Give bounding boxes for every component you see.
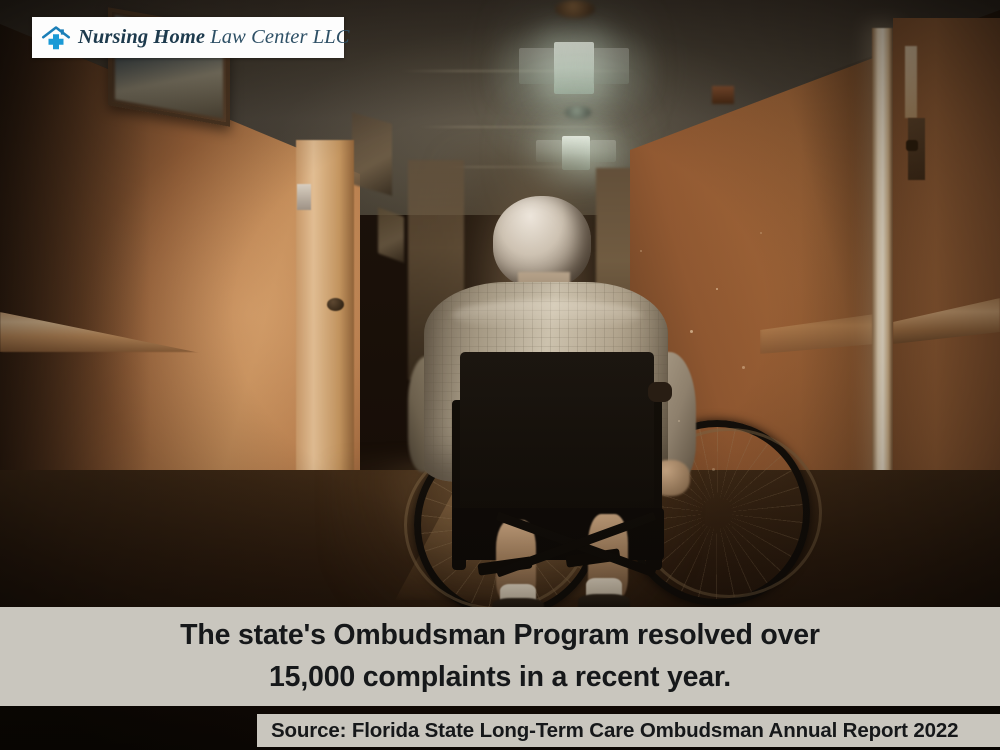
dust-mote — [712, 468, 715, 471]
source-bar: Source: Florida State Long-Term Care Omb… — [257, 714, 1000, 747]
logo-watermark[interactable]: Nursing Home Law Center LLC — [32, 17, 344, 58]
caption-line-2: 15,000 complaints in a recent year. — [269, 657, 731, 698]
dust-mote — [742, 366, 745, 369]
caption-band: The state's Ombudsman Program resolved o… — [0, 607, 1000, 706]
ceiling-light-panel — [554, 42, 594, 94]
ceiling-light-panel — [519, 48, 555, 84]
door-panel-edge — [905, 46, 917, 118]
framed-picture — [378, 207, 404, 262]
door-knob — [906, 140, 918, 151]
source-attribution: Source: Florida State Long-Term Care Omb… — [257, 719, 958, 743]
dust-mote — [678, 420, 680, 422]
ceiling-dome-fixture — [565, 106, 591, 119]
framed-picture — [352, 112, 392, 195]
dust-mote — [760, 232, 762, 234]
caption-line-1: The state's Ombudsman Program resolved o… — [180, 615, 820, 656]
ceiling-dome-fixture — [555, 0, 595, 18]
logo-wordmark: Nursing Home Law Center LLC — [78, 27, 350, 48]
dust-mote — [716, 288, 718, 290]
door-plate — [297, 184, 311, 210]
shirt-fold-highlight — [452, 300, 642, 330]
door-knob — [327, 298, 344, 311]
logo-name-light: Law Center LLC — [205, 26, 349, 48]
logo-name-bold: Nursing Home — [78, 26, 205, 48]
house-with-medical-cross-icon — [41, 24, 71, 52]
ceiling-light-panel — [593, 48, 629, 84]
wheelchair-armrest — [648, 382, 672, 402]
dust-mote — [690, 330, 693, 333]
infographic-canvas: Nursing Home Law Center LLC The state's … — [0, 0, 1000, 750]
exit-sign — [712, 86, 734, 104]
dust-mote — [640, 250, 642, 252]
